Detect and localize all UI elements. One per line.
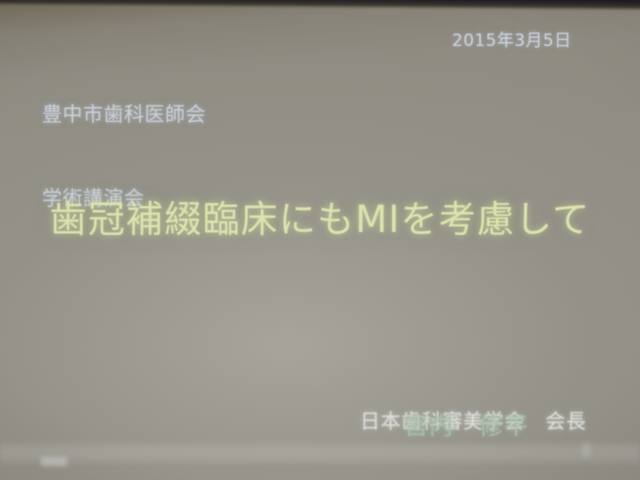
sensor-grain xyxy=(0,0,640,480)
projected-slide-photo: 豊中市歯科医師会 学術講演会 2015年3月5日 歯冠補綴臨床にもMIを考慮して… xyxy=(0,0,640,480)
screen-top-edge-band xyxy=(0,0,640,11)
lower-left-faint-mark xyxy=(41,457,67,466)
lecture-date: 2015年3月5日 xyxy=(452,30,572,52)
speaker-affiliation-line-1: 日本歯科審美学会 会長 xyxy=(360,408,587,434)
screen-tone-gradient xyxy=(0,0,640,480)
speaker-name: 宮内 修平 xyxy=(404,411,529,443)
organizer-line-1: 豊中市歯科医師会 xyxy=(42,101,206,127)
lens-vignette xyxy=(0,0,640,480)
lower-right-faint-mark xyxy=(583,443,590,457)
projector-illumination-gradient xyxy=(0,0,640,480)
defocus-softness xyxy=(0,0,640,480)
lower-light-band xyxy=(0,440,640,466)
speaker-affiliation-block: 日本歯科審美学会 会長 大阪市 開業 xyxy=(360,355,587,480)
organizer-block: 豊中市歯科医師会 学術講演会 xyxy=(42,48,206,264)
organizer-line-2: 学術講演会 xyxy=(42,185,206,211)
slide-title: 歯冠補綴臨床にもMIを考慮して xyxy=(0,196,640,245)
